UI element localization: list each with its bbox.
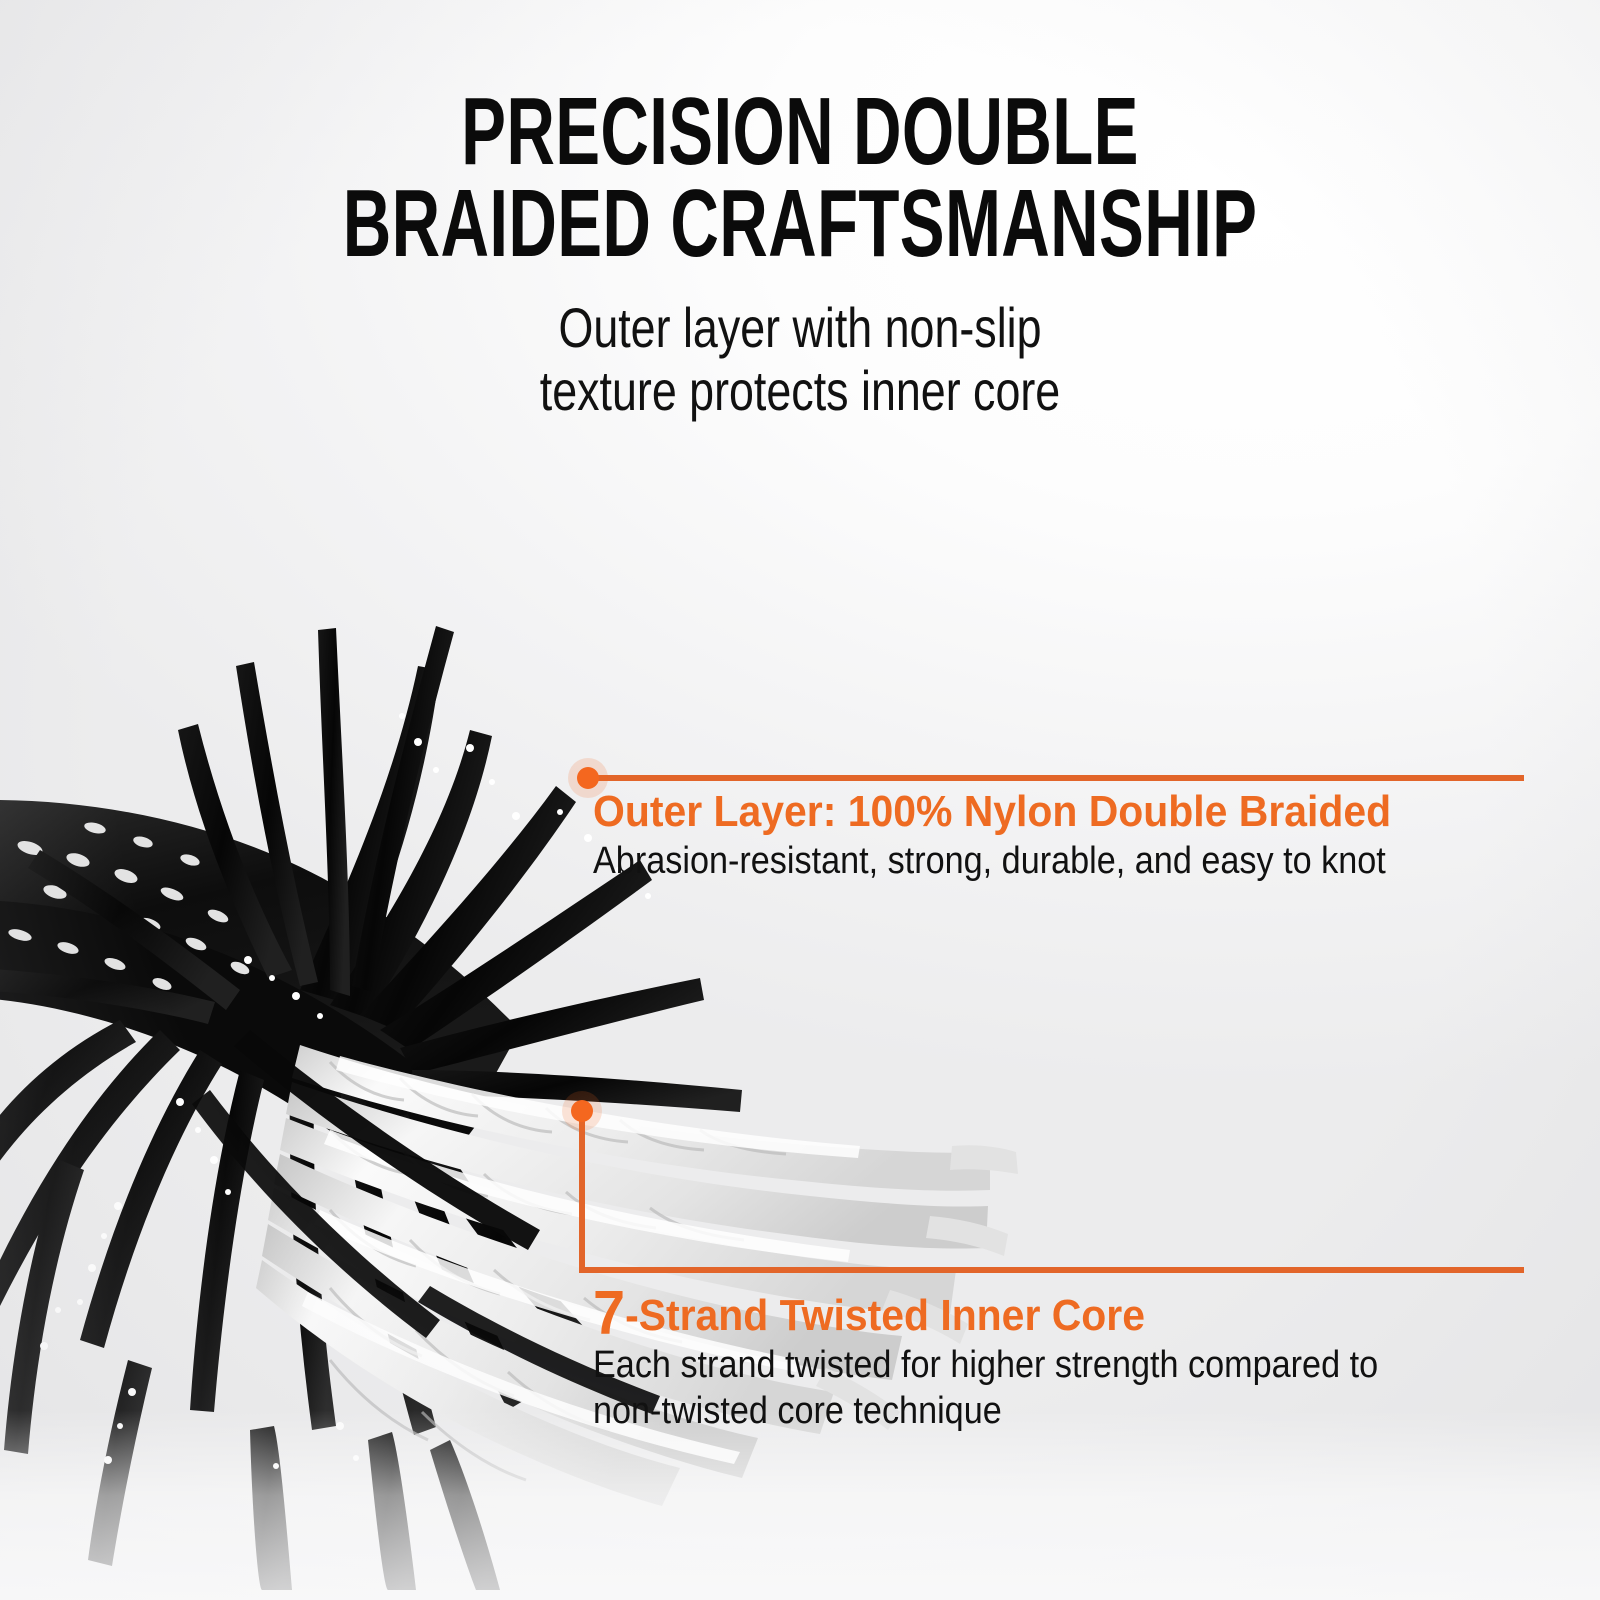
leader-dot-inner-core: [571, 1100, 593, 1122]
leader-line-inner-core-vertical: [579, 1111, 585, 1273]
title-line-2: BRAIDED CRAFTSMANSHIP: [240, 178, 1360, 270]
leader-line-inner-core-horizontal: [579, 1267, 1524, 1273]
title-line-1: PRECISION DOUBLE: [240, 86, 1360, 178]
infographic-page: PRECISION DOUBLE BRAIDED CRAFTSMANSHIP O…: [0, 0, 1600, 1600]
callout-inner-core-heading: 7-Strand Twisted Inner Core: [593, 1288, 1404, 1342]
callout-inner-core: 7-Strand Twisted Inner Core Each strand …: [593, 1288, 1465, 1434]
callout-inner-core-heading-rest: -Strand Twisted Inner Core: [625, 1291, 1145, 1340]
callout-outer-layer-heading: Outer Layer: 100% Nylon Double Braided: [593, 786, 1412, 838]
callout-inner-core-body-line-2: non-twisted core technique: [593, 1388, 1378, 1434]
subtitle-line-2: texture protects inner core: [160, 359, 1440, 422]
callout-outer-layer-body-line-1: Abrasion-resistant, strong, durable, and…: [593, 838, 1386, 884]
page-title: PRECISION DOUBLE BRAIDED CRAFTSMANSHIP: [0, 86, 1600, 270]
callout-inner-core-body-line-1: Each strand twisted for higher strength …: [593, 1342, 1378, 1388]
subtitle-line-1: Outer layer with non-slip: [160, 296, 1440, 359]
leader-line-outer-layer: [588, 775, 1524, 781]
callout-outer-layer: Outer Layer: 100% Nylon Double Braided A…: [593, 786, 1474, 884]
page-subtitle: Outer layer with non-slip texture protec…: [0, 296, 1600, 422]
strand-count: 7: [593, 1279, 625, 1348]
